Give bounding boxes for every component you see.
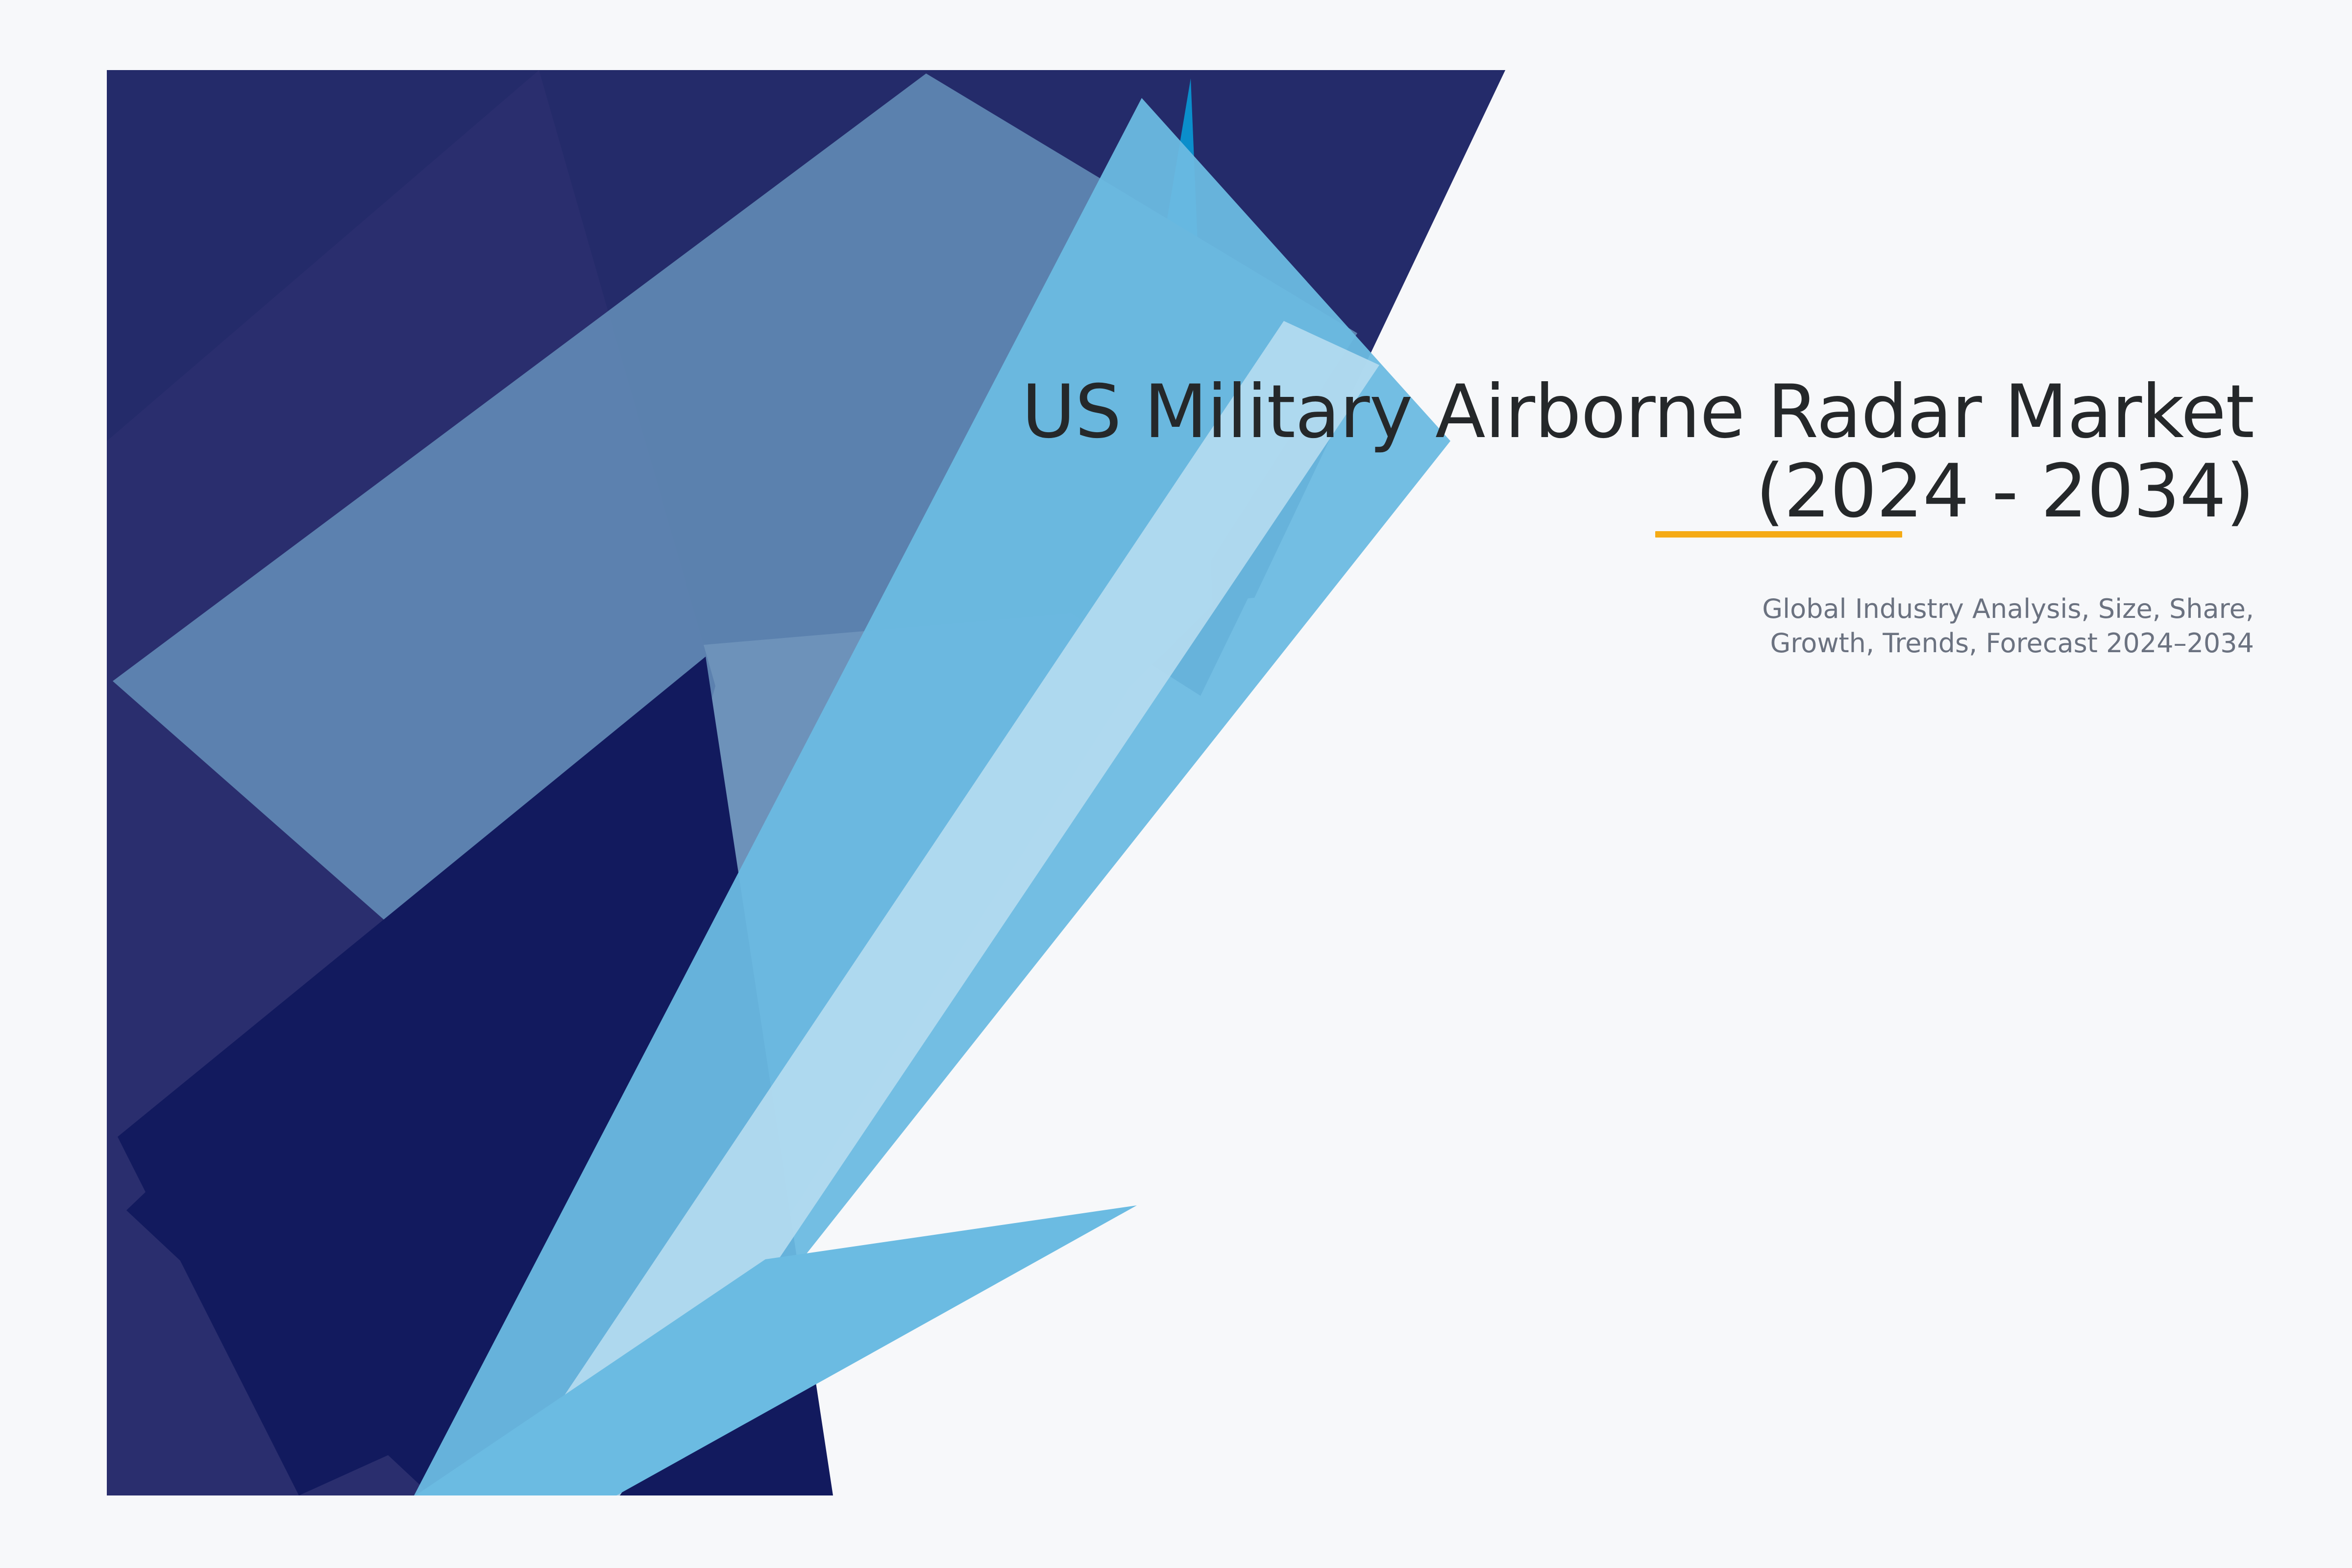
page-subtitle-line-1: Global Industry Analysis, Size, Share, <box>833 592 2254 626</box>
title-accent-underline <box>1655 531 1902 538</box>
artwork-shape-group <box>107 70 1505 1495</box>
page-subtitle: Global Industry Analysis, Size, Share, G… <box>833 592 2254 661</box>
page-title-line-1: US Military Airborne Radar Market <box>833 372 2254 452</box>
page-title-line-2: (2024 - 2034) <box>833 452 2254 531</box>
page-subtitle-line-2: Growth, Trends, Forecast 2024–2034 <box>833 626 2254 661</box>
abstract-polygon-cover-graphic <box>0 0 2352 1568</box>
page-title: US Military Airborne Radar Market (2024 … <box>833 372 2254 531</box>
cover-text-block: US Military Airborne Radar Market (2024 … <box>833 372 2254 661</box>
cover-page: US Military Airborne Radar Market (2024 … <box>0 0 2352 1568</box>
